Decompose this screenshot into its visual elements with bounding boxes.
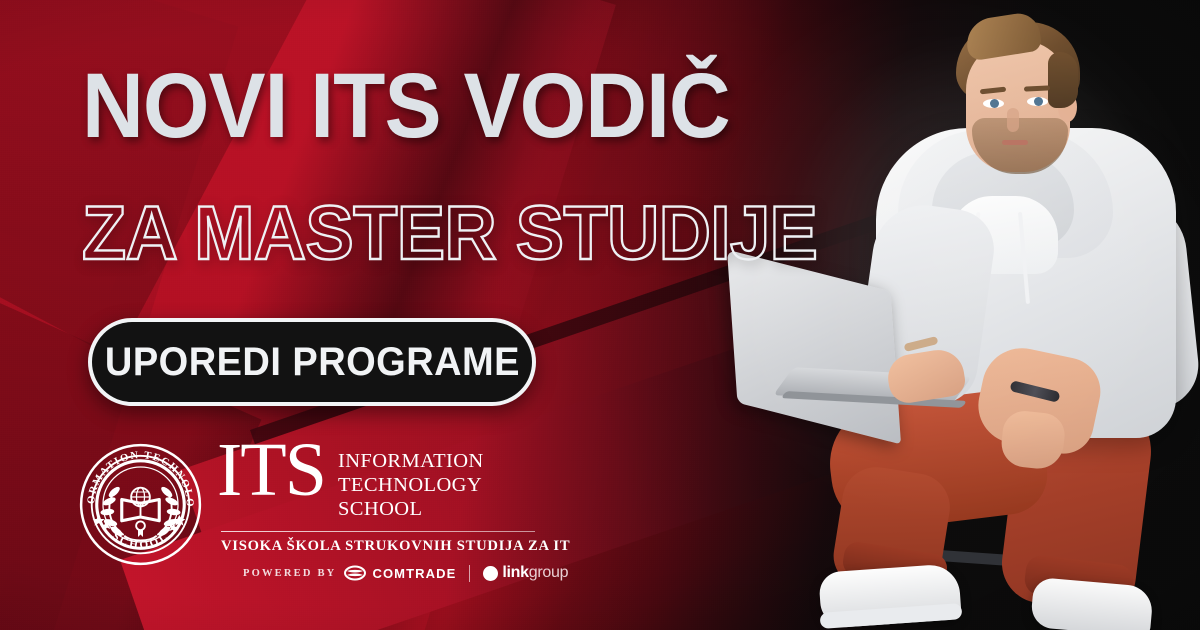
- its-logo-lockup[interactable]: INFORMATION TECHNOLOGY ★ SCHOOL ★: [78, 440, 570, 582]
- logo-tagline: VISOKA ŠKOLA STRUKOVNIH STUDIJA ZA IT: [221, 538, 570, 555]
- hair-side: [1048, 52, 1078, 108]
- its-wordmark: ITS: [217, 440, 325, 501]
- compare-programs-button-label: UPOREDI PROGRAME: [104, 340, 519, 385]
- logo-text-block: ITS INFORMATION TECHNOLOGY SCHOOL VISOKA…: [217, 440, 570, 582]
- logo-word-row: ITS INFORMATION TECHNOLOGY SCHOOL: [217, 446, 570, 522]
- powered-by-label: POWERED BY: [243, 568, 336, 579]
- its-name-line-2: TECHNOLOGY: [338, 474, 484, 498]
- compare-programs-button[interactable]: UPOREDI PROGRAME: [88, 318, 536, 406]
- its-name-line-1: INFORMATION: [338, 450, 484, 474]
- banner-content: NOVI ITS VODIČ ZA MASTER STUDIJE UPOREDI…: [0, 0, 760, 630]
- linkgroup-dot-icon: [483, 566, 498, 581]
- partner-divider: [469, 565, 470, 582]
- its-seal-icon: INFORMATION TECHNOLOGY ★ SCHOOL ★: [78, 442, 203, 567]
- comtrade-label: COMTRADE: [372, 566, 456, 581]
- mouth: [1002, 140, 1028, 145]
- comtrade-lens-icon: [344, 565, 366, 581]
- linkgroup-label-bold: link: [502, 564, 528, 581]
- iris-left: [990, 99, 999, 108]
- headline: NOVI ITS VODIČ: [82, 62, 730, 150]
- comtrade-logo[interactable]: COMTRADE: [344, 565, 456, 581]
- its-promo-banner: NOVI ITS VODIČ ZA MASTER STUDIJE UPOREDI…: [0, 0, 1200, 630]
- powered-by-row: POWERED BY COMTRADE linkgroup: [243, 564, 570, 582]
- logo-divider-rule: [221, 531, 535, 533]
- its-name-line-3: SCHOOL: [338, 498, 484, 522]
- its-full-name: INFORMATION TECHNOLOGY SCHOOL: [338, 446, 484, 522]
- linkgroup-logo[interactable]: linkgroup: [483, 564, 568, 582]
- nose: [1007, 108, 1019, 132]
- subheadline: ZA MASTER STUDIJE: [82, 196, 817, 272]
- linkgroup-label: linkgroup: [502, 564, 568, 582]
- iris-right: [1034, 97, 1043, 106]
- linkgroup-label-light: group: [529, 564, 568, 581]
